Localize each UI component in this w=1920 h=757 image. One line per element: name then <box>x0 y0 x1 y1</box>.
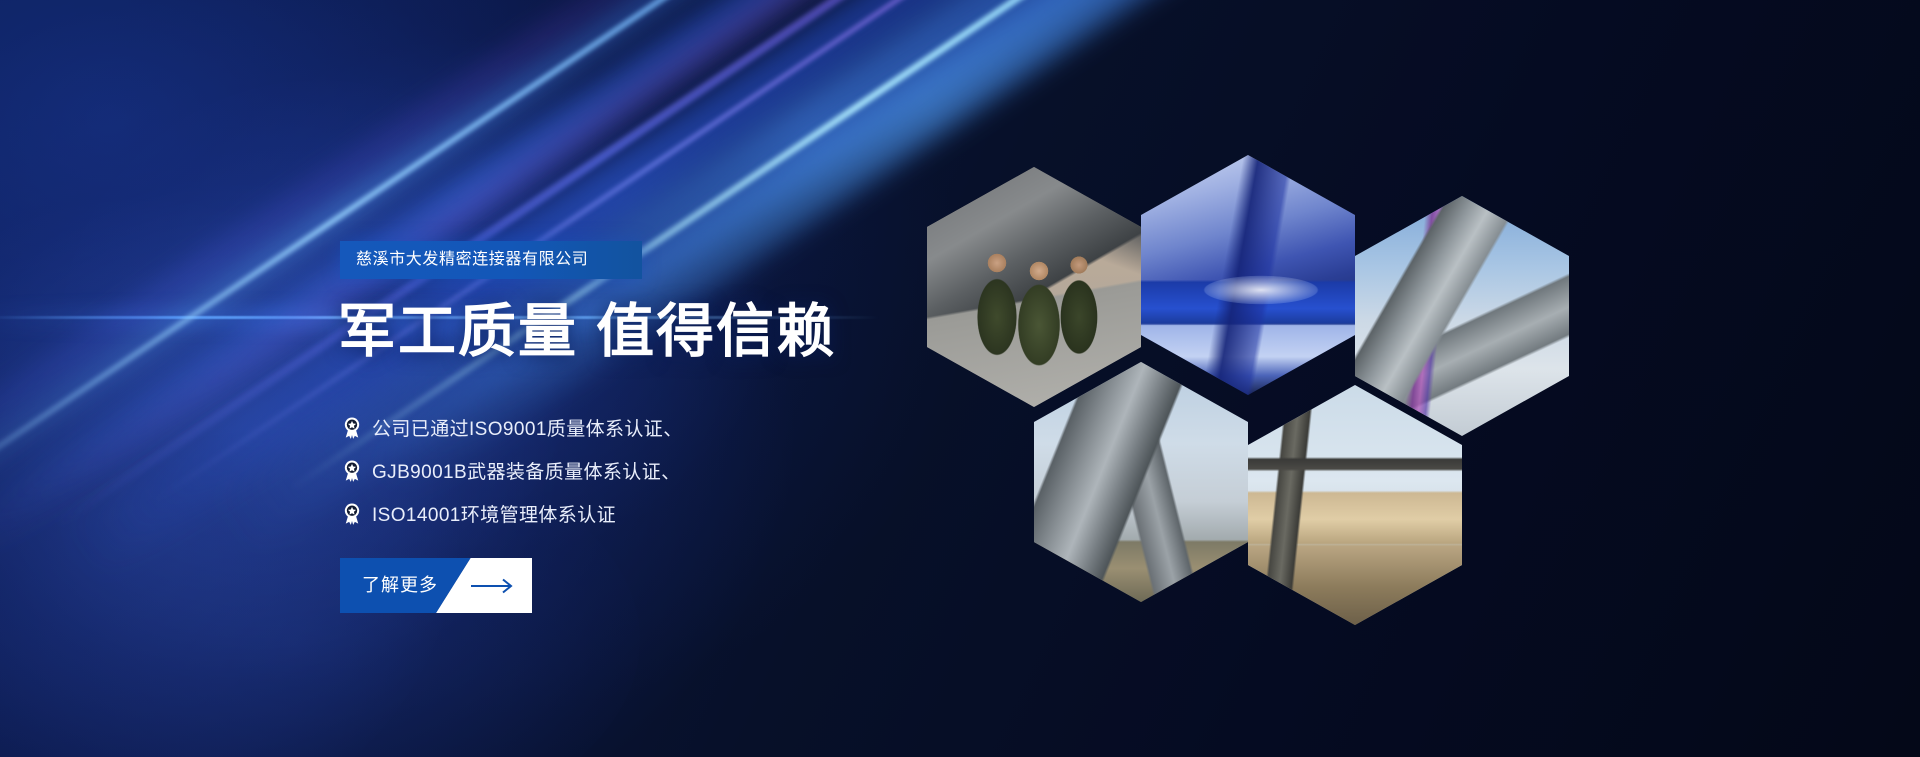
list-item: ISO14001环境管理体系认证 <box>342 492 683 535</box>
learn-more-label: 了解更多 <box>362 558 438 613</box>
medal-icon <box>342 460 362 482</box>
hex-rafale-jet[interactable] <box>1034 362 1248 602</box>
hex-battle-tank-image <box>1248 385 1462 625</box>
hex-battle-tank[interactable] <box>1248 385 1462 625</box>
learn-more-button[interactable]: 了解更多 <box>340 558 532 613</box>
hero-banner: 慈溪市大发精密连接器有限公司 军工质量 值得信赖 公司已通过ISO9001质量体… <box>0 0 1920 757</box>
medal-icon <box>342 503 362 525</box>
list-item: GJB9001B武器装备质量体系认证、 <box>342 449 683 492</box>
hex-boeing-aircraft[interactable] <box>1141 155 1355 395</box>
list-item-label: ISO14001环境管理体系认证 <box>372 500 616 527</box>
page-title: 军工质量 值得信赖 <box>338 300 836 364</box>
medal-icon <box>342 417 362 439</box>
list-item-label: GJB9001B武器装备质量体系认证、 <box>372 457 681 484</box>
hex-boeing-aircraft-image <box>1141 155 1355 395</box>
hex-fighter-cockpit-image <box>1355 196 1569 436</box>
hex-rafale-jet-image <box>1034 362 1248 602</box>
hero-content: 慈溪市大发精密连接器有限公司 军工质量 值得信赖 公司已通过ISO9001质量体… <box>340 0 1060 757</box>
hex-fighter-cockpit[interactable] <box>1355 196 1569 436</box>
arrow-right-icon <box>470 558 516 613</box>
certification-list: 公司已通过ISO9001质量体系认证、 GJB9001B武器装备质量体系认证、 <box>342 406 683 535</box>
list-item: 公司已通过ISO9001质量体系认证、 <box>342 406 683 449</box>
company-name-badge: 慈溪市大发精密连接器有限公司 <box>340 241 642 279</box>
list-item-label: 公司已通过ISO9001质量体系认证、 <box>372 414 683 441</box>
